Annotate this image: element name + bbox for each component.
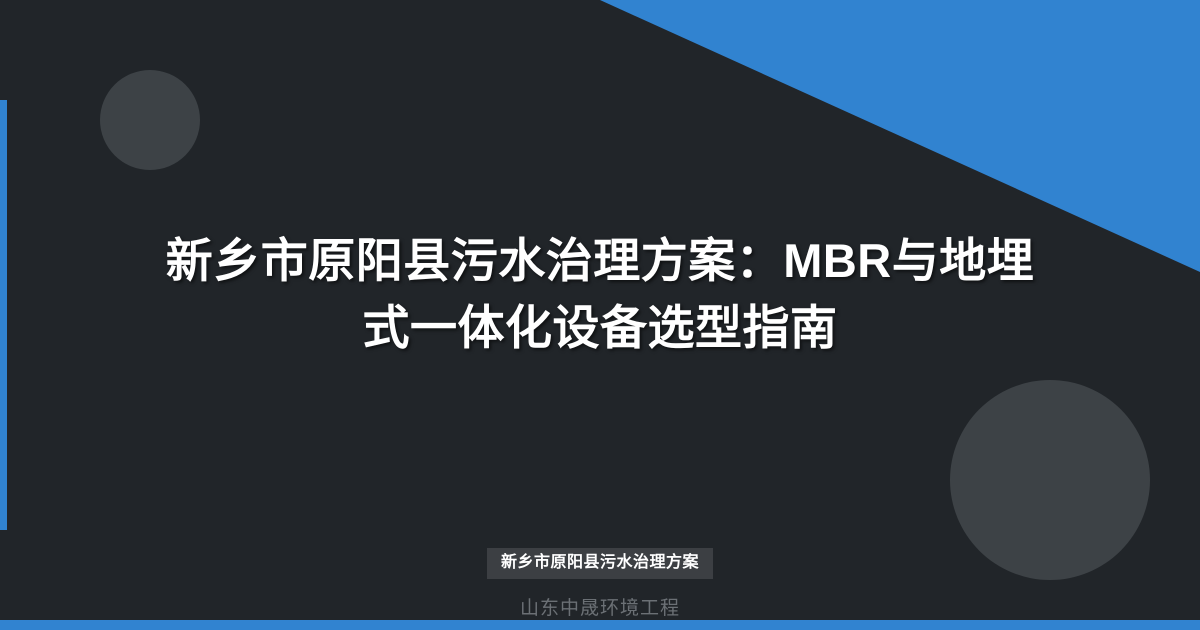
- slide-footer: 新乡市原阳县污水治理方案 山东中晟环境工程: [0, 548, 1200, 620]
- page-title: 新乡市原阳县污水治理方案：MBR与地埋 式一体化设备选型指南: [150, 228, 1050, 361]
- title-slide: 新乡市原阳县污水治理方案：MBR与地埋 式一体化设备选型指南 新乡市原阳县污水治…: [0, 0, 1200, 630]
- title-container: 新乡市原阳县污水治理方案：MBR与地埋 式一体化设备选型指南: [0, 0, 1200, 630]
- footer-topic-badge: 新乡市原阳县污水治理方案: [487, 548, 713, 579]
- footer-brand-name: 山东中晟环境工程: [520, 593, 680, 620]
- bottom-accent-bar: [0, 620, 1200, 630]
